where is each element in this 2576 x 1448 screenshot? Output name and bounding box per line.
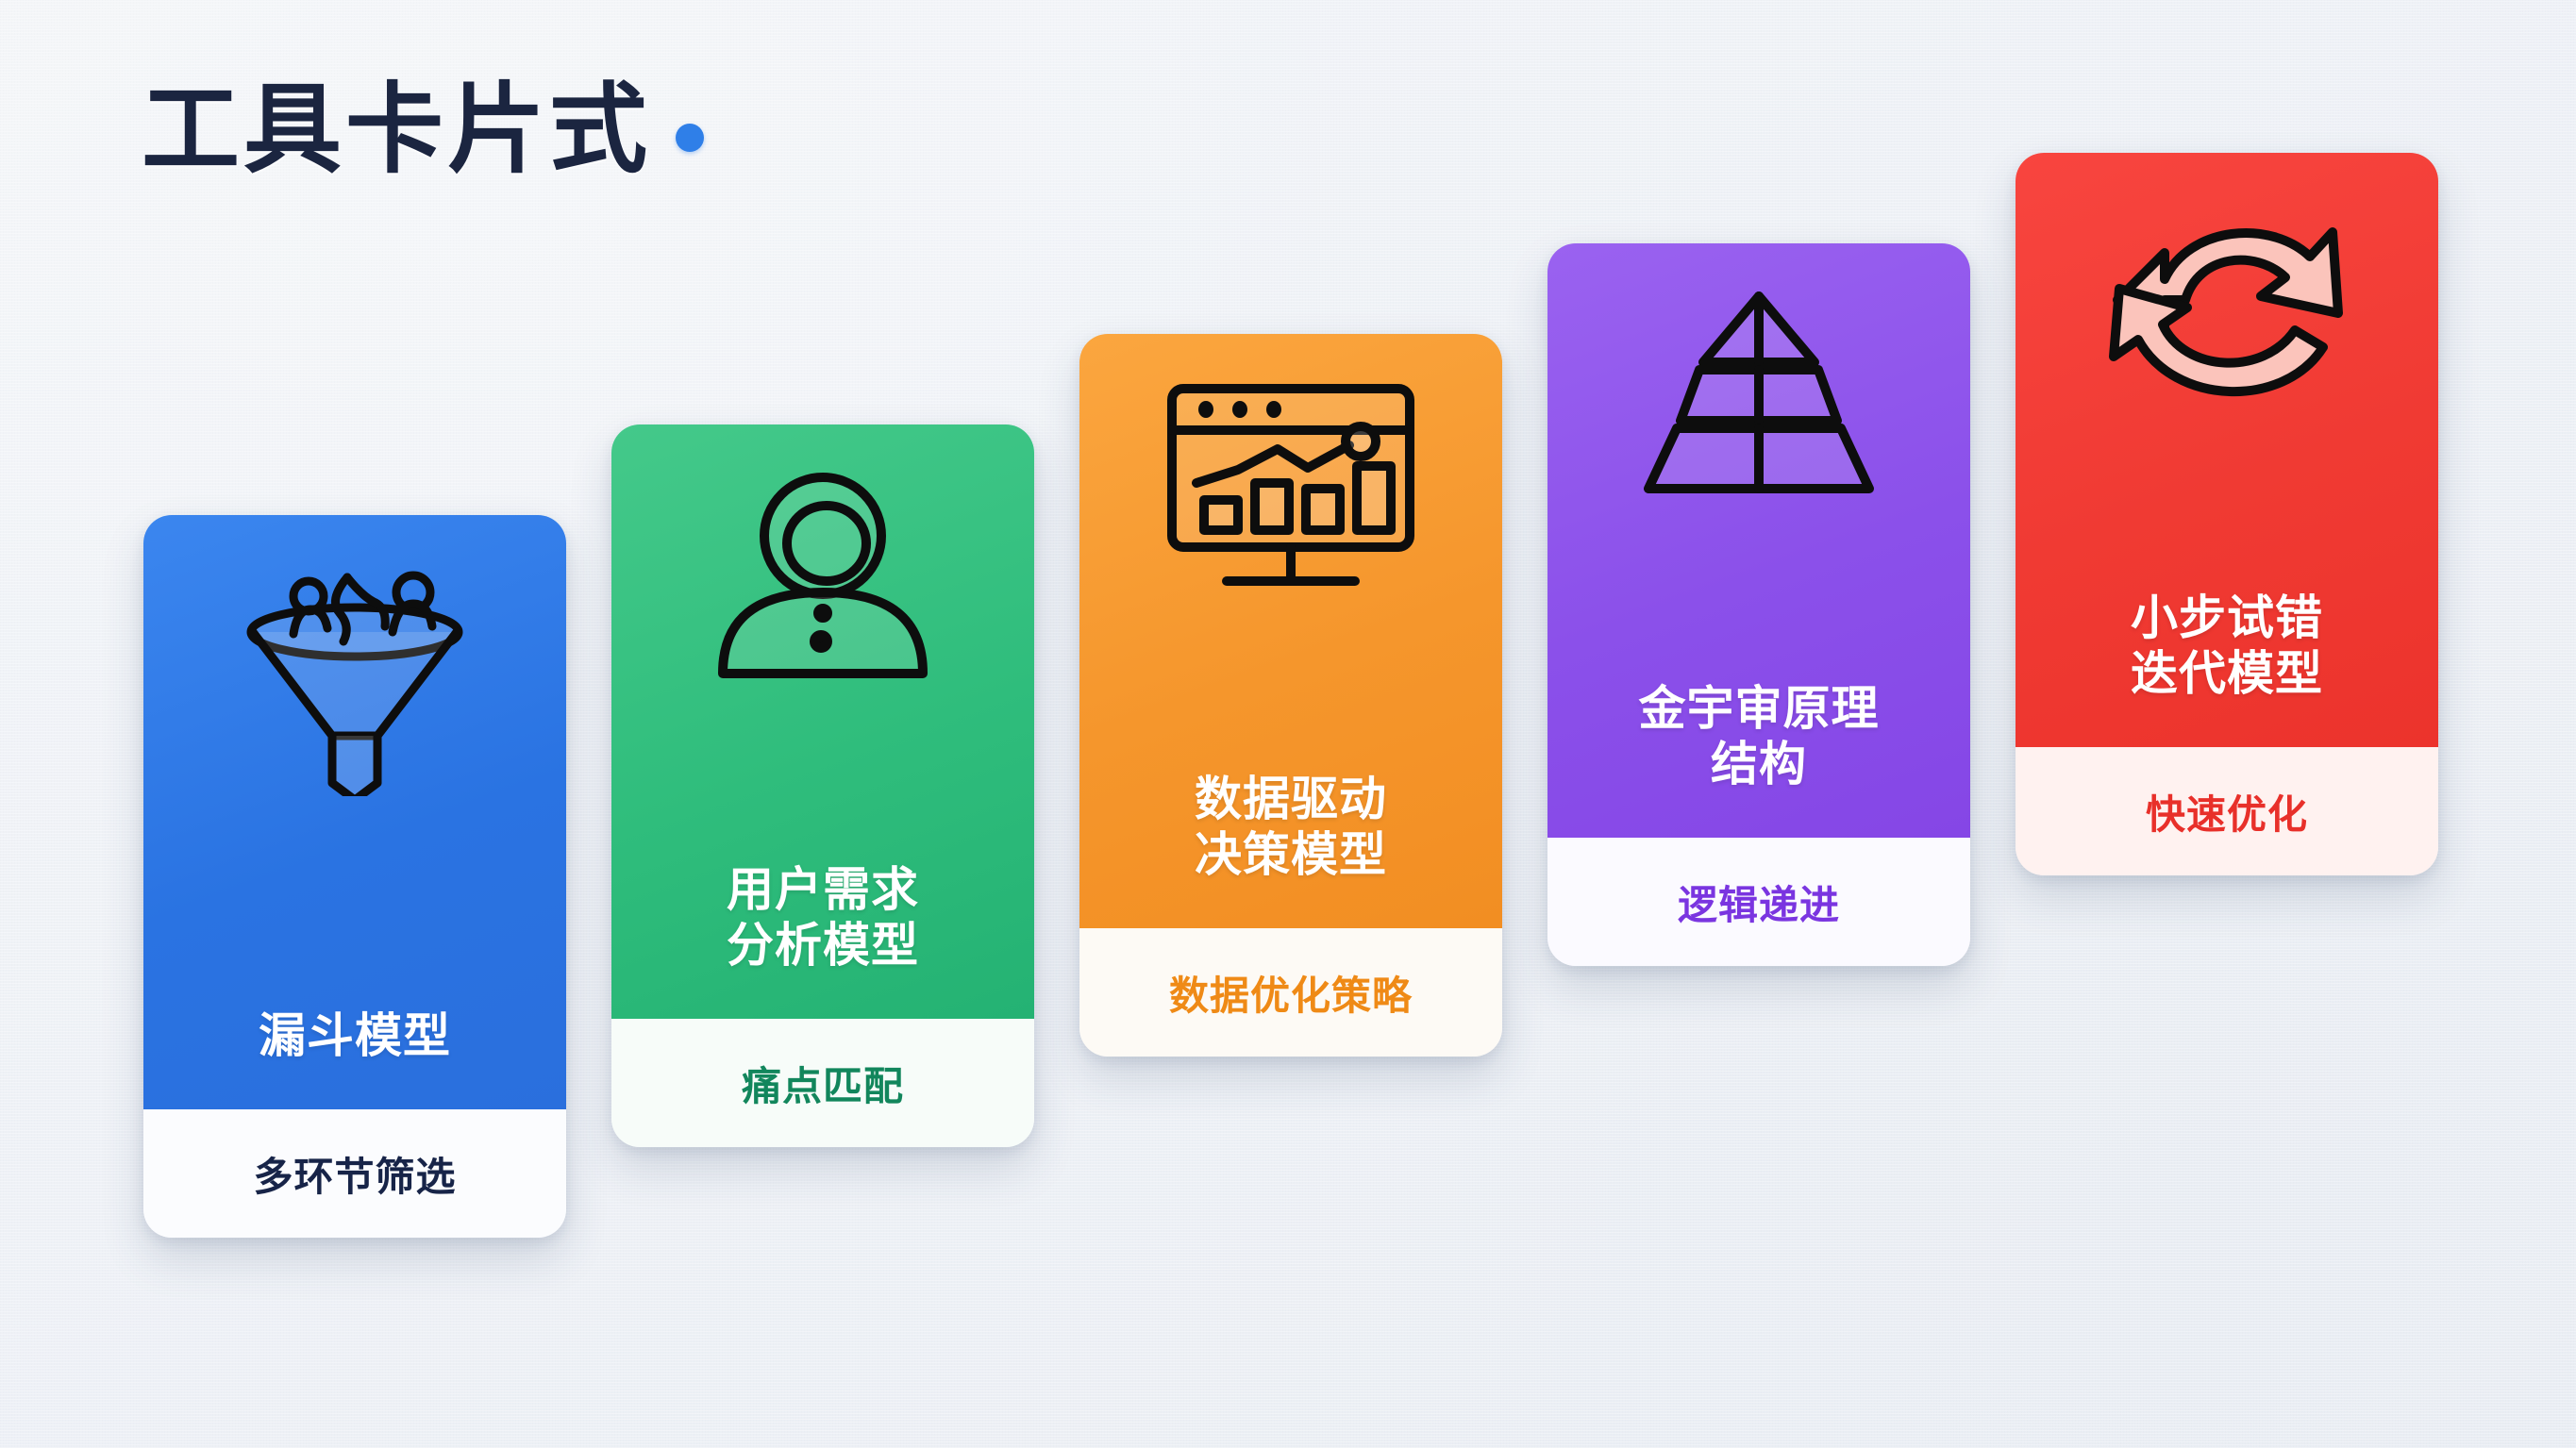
card-body: 用户需求 分析模型 [611, 424, 1034, 1019]
card-title: 数据驱动 决策模型 [1100, 772, 1481, 911]
card-body: 金宇审原理 结构 [1547, 243, 1970, 838]
card-footer: 痛点匹配 [611, 1019, 1034, 1147]
tool-card-iteration[interactable]: 小步试错 迭代模型 快速优化 [2016, 153, 2438, 875]
accent-dot-icon [676, 124, 704, 152]
card-title: 漏斗模型 [164, 1008, 545, 1092]
tool-card-funnel[interactable]: 漏斗模型 多环节筛选 [143, 515, 566, 1238]
page-header: 工具卡片式 [142, 81, 704, 179]
card-footer: 逻辑递进 [1547, 838, 1970, 966]
card-title: 小步试错 迭代模型 [2036, 591, 2417, 730]
tool-card-data-driven[interactable]: 数据驱动 决策模型 数据优化策略 [1079, 334, 1502, 1057]
card-footer: 快速优化 [2016, 747, 2438, 875]
card-body: 小步试错 迭代模型 [2016, 153, 2438, 747]
page-title: 工具卡片式 [142, 81, 651, 179]
card-footer: 多环节筛选 [143, 1109, 566, 1238]
card-footer: 数据优化策略 [1079, 928, 1502, 1057]
slide-canvas: 工具卡片式 [0, 0, 2576, 1448]
card-body: 数据驱动 决策模型 [1079, 334, 1502, 928]
card-title: 金宇审原理 结构 [1568, 681, 1949, 821]
monitor-bar-chart-icon [1100, 379, 1481, 615]
user-person-icon [632, 470, 1013, 706]
card-body: 漏斗模型 [143, 515, 566, 1109]
funnel-icon [164, 560, 545, 796]
tool-card-pyramid[interactable]: 金宇审原理 结构 逻辑递进 [1547, 243, 1970, 966]
pyramid-icon [1568, 289, 1949, 506]
card-title: 用户需求 分析模型 [632, 862, 1013, 1002]
cycle-refresh-arrows-icon [2036, 198, 2417, 415]
tool-card-user-need[interactable]: 用户需求 分析模型 痛点匹配 [611, 424, 1034, 1147]
